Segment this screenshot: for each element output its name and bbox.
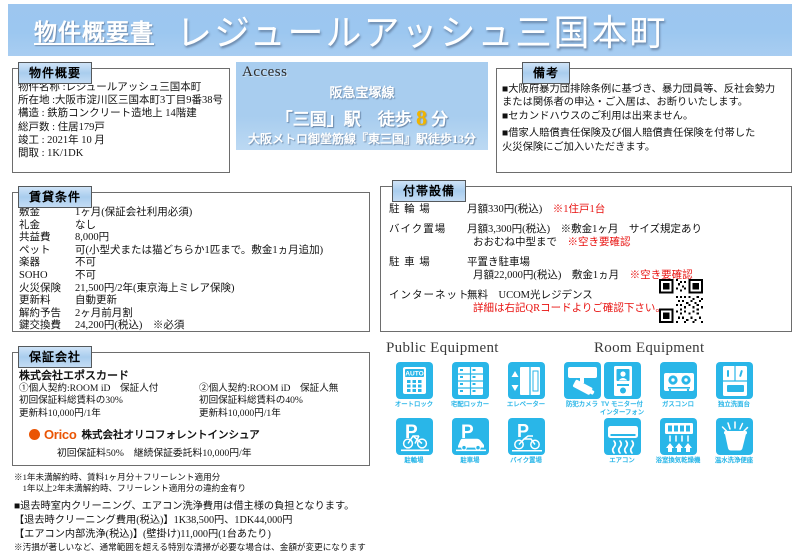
equipment-item: TV モニター付 インターフォン: [596, 362, 648, 416]
rental-condition-value: 8,000円: [75, 232, 109, 245]
rental-condition-row: 共益費8,000円: [19, 232, 323, 245]
orico-brand: Orico: [44, 427, 76, 442]
overview-row: 総戸数 : 住居179戸: [18, 121, 223, 134]
svg-text:AUTO: AUTO: [405, 371, 424, 378]
orico-logo: Orico 株式会社オリコフォレントインシュア: [29, 427, 260, 442]
rental-condition-value: 不可: [75, 270, 96, 283]
equipment-label: TV モニター付 インターフォン: [600, 401, 644, 416]
access-label: Access: [242, 64, 287, 81]
delivery-locker-icon: [452, 362, 489, 399]
facility-text: 無料 UCOM光レジデンス: [467, 290, 593, 301]
access-station-prefix: 「三国」駅 徒歩: [276, 110, 416, 129]
rental-conditions-list: 敷金1ヶ月(保証会社利用必須)礼金なし共益費8,000円ペット可(小型犬または猫…: [19, 207, 323, 333]
guarantor-badge: 保証会社: [18, 346, 92, 368]
guarantor-section: 株式会社エポスカード ①個人契約:ROOM iD 保証人付初回保証料総賃料の30…: [12, 352, 370, 466]
equipment-label: 浴室換気乾燥機: [656, 457, 701, 465]
public-equipment-row-1: AUTOオートロック宅配ロッカーエレベーター防犯カメラ: [388, 362, 612, 409]
rental-condition-row: SOHO不可: [19, 270, 323, 283]
rental-condition-value: 1ヶ月(保証会社利用必須): [75, 207, 192, 220]
access-station-walk: 「三国」駅 徒歩 8 分: [236, 105, 488, 131]
rental-condition-key: 楽器: [19, 257, 75, 270]
facility-value-line: おおむね中型まで ※空き要確認: [467, 236, 702, 249]
access-section: Access 阪急宝塚線 「三国」駅 徒歩 8 分 大阪メトロ御堂筋線『東三国』…: [236, 62, 488, 150]
facility-text: 月額330円(税込): [467, 204, 553, 215]
overview-row: 構造 : 鉄筋コンクリート造地上 14階建: [18, 107, 223, 120]
facility-text: おおむね中型まで: [473, 237, 568, 248]
facility-key: バイク置場: [389, 223, 467, 249]
facility-key: インターネット: [389, 289, 467, 315]
public-equipment-title: Public Equipment: [386, 340, 499, 357]
access-station-suffix: 分: [427, 110, 448, 129]
facility-value: 月額3,300円(税込) ※敷金1ヶ月 サイズ規定ありおおむね中型まで ※空き要…: [467, 223, 702, 249]
guarantor-plan-line: ②個人契約:ROOM iD 保証人無: [199, 383, 338, 395]
facility-text: 平置き駐車場: [467, 257, 530, 268]
gas-stove-icon: [660, 362, 697, 399]
rental-condition-key: 敷金: [19, 207, 75, 220]
equipment-item: 温水洗浄便座: [708, 418, 760, 465]
overview-row: 間取 : 1K/1DK: [18, 147, 223, 160]
rental-condition-key: 解約予告: [19, 308, 75, 321]
facility-value: 月額330円(税込) ※1住戸1台: [467, 203, 605, 216]
room-equipment-title: Room Equipment: [594, 340, 704, 357]
rental-conditions-section: 敷金1ヶ月(保証会社利用必須)礼金なし共益費8,000円ペット可(小型犬または猫…: [12, 192, 370, 332]
document-header: 物件概要書 レジュールアッシュ三国本町: [8, 4, 792, 56]
equipment-label: エレベーター: [507, 401, 545, 409]
remarks-line: 火災保険にご加入いただきます。: [502, 141, 775, 154]
facility-note: ※1住戸1台: [553, 204, 606, 215]
orico-dot-icon: [29, 429, 40, 440]
orico-detail: 初回保証料50% 継続保証委託料10,000円/年: [57, 445, 252, 459]
rental-condition-value: 2ヶ月前月割: [75, 308, 133, 321]
guarantor-plan-line: 更新料10,000円/1年: [19, 408, 158, 420]
washbasin-icon: [716, 362, 753, 399]
bath-dryer-icon: [660, 418, 697, 455]
air-conditioner-icon: [604, 418, 641, 455]
guarantor-plan-line: ①個人契約:ROOM iD 保証人付: [19, 383, 158, 395]
rental-condition-row: ペット可(小型犬または猫どちらか1匹まで。敷金1ヵ月追加): [19, 245, 323, 258]
equipment-label: エアコン: [609, 457, 635, 465]
facility-value-line: 月額330円(税込) ※1住戸1台: [467, 203, 605, 216]
facility-row: バイク置場月額3,300円(税込) ※敷金1ヶ月 サイズ規定ありおおむね中型まで…: [389, 223, 702, 249]
rental-condition-row: 火災保険21,500円/2年(東京海上ミレア保険): [19, 283, 323, 296]
equipment-label: ガスコンロ: [662, 401, 694, 409]
access-walk-minutes: 8: [416, 105, 427, 130]
property-overview-badge: 物件概要: [18, 62, 92, 84]
equipment-label: 駐車場: [460, 457, 479, 465]
bottom-notes: ※1年未満解約時、賃料1ヶ月分＋フリーレント適用分 1年以上2年未満解約時、フリ…: [14, 472, 434, 553]
access-train-line: 阪急宝塚線: [236, 82, 488, 101]
notes-line: ■退去時室内クリーニング、エアコン洗浄費用は借主様の負担となります。: [14, 500, 434, 514]
facility-row: 駐 車 場平置き駐車場月額22,000円(税込) 敷金1ヵ月 ※空き要確認: [389, 256, 702, 282]
rental-condition-value: 自動更新: [75, 295, 117, 308]
equipment-label: 宅配ロッカー: [451, 401, 489, 409]
rental-condition-row: 楽器不可: [19, 257, 323, 270]
access-secondary-station: 大阪メトロ御堂筋線『東三国』駅徒歩13分: [236, 130, 488, 147]
equipment-label: オートロック: [395, 401, 433, 409]
facility-key: 駐 輪 場: [389, 203, 467, 216]
equipment-label: 温水洗浄便座: [715, 457, 753, 465]
facilities-badge: 付帯設備: [392, 180, 466, 202]
facility-note: ※空き要確認: [568, 237, 631, 248]
notes-body: ■退去時室内クリーニング、エアコン洗浄費用は借主様の負担となります。【退去時クリ…: [14, 500, 434, 542]
equipment-label: バイク置場: [510, 457, 542, 465]
equipment-item: エレベーター: [500, 362, 552, 409]
facility-row: インターネット無料 UCOM光レジデンス詳細は右記QRコードよりご確認下さい。: [389, 289, 702, 315]
facility-text: 月額22,000円(税込) 敷金1ヵ月: [473, 270, 630, 281]
rental-condition-key: 共益費: [19, 232, 75, 245]
room-equipment-row-1: TV モニター付 インターフォンガスコンロ独立洗面台: [596, 362, 764, 416]
notes-small: ※1年未満解約時、賃料1ヶ月分＋フリーレント適用分 1年以上2年未満解約時、フリ…: [14, 472, 434, 495]
rental-conditions-badge: 賃貸条件: [18, 186, 92, 208]
rental-condition-key: 礼金: [19, 220, 75, 233]
rental-condition-value: 不可: [75, 257, 96, 270]
tv-intercom-icon: [604, 362, 641, 399]
guarantor-plan-left: ①個人契約:ROOM iD 保証人付初回保証料総賃料の30%更新料10,000円…: [19, 383, 158, 420]
equipment-item: エアコン: [596, 418, 648, 465]
rental-condition-value: 24,200円(税込) ※必須: [75, 320, 184, 333]
facility-text: 月額3,300円(税込) ※敷金1ヶ月 サイズ規定あり: [467, 224, 702, 235]
overview-row: 竣工 : 2021年 10 月: [18, 134, 223, 147]
facility-value: 無料 UCOM光レジデンス詳細は右記QRコードよりご確認下さい。: [467, 289, 666, 315]
rental-condition-key: 鍵交換費: [19, 320, 75, 333]
equipment-item: 浴室換気乾燥機: [652, 418, 704, 465]
equipment-label: 駐輪場: [404, 457, 423, 465]
auto-lock-icon: AUTO: [396, 362, 433, 399]
remarks-line: ■セカンドハウスのご利用は出来ません。: [502, 110, 775, 123]
remarks-list: ■大阪府暴力団排除条例に基づき、暴力団員等、反社会勢力または関係者の申込・ご入居…: [502, 83, 775, 154]
guarantor-plan-line: 初回保証料総賃料の30%: [19, 395, 158, 407]
property-overview-list: 物件名称 :レジュールアッシュ三国本町所在地 :大阪市淀川区三国本町3丁目9番3…: [18, 81, 223, 160]
rental-condition-key: SOHO: [19, 270, 75, 283]
notes-line: 【エアコン内部洗浄(税込)】(壁掛け)11,000円(1台あたり): [14, 528, 434, 542]
equipment-section: Public Equipment Room Equipment AUTOオートロ…: [386, 340, 796, 500]
equipment-item: 独立洗面台: [708, 362, 760, 416]
rental-condition-row: 鍵交換費24,200円(税込) ※必須: [19, 320, 323, 333]
security-camera-icon: [564, 362, 601, 399]
guarantor-plan-line: 更新料10,000円/1年: [199, 408, 338, 420]
notes-footer: ※汚損が著しいなど、通常範囲を超える特別な清掃が必要な場合は、金額が変更になりま…: [14, 542, 434, 553]
facility-value-line: 無料 UCOM光レジデンス: [467, 289, 666, 302]
notes-line: 【退去時クリーニング費用(税込)】1K38,500円、1DK44,000円: [14, 514, 434, 528]
facility-row: 駐 輪 場月額330円(税込) ※1住戸1台: [389, 203, 702, 216]
facility-note: 詳細は右記QRコードよりご確認下さい。: [473, 303, 666, 314]
rental-condition-key: ペット: [19, 245, 75, 258]
room-equipment-row-2: エアコン浴室換気乾燥機温水洗浄便座: [596, 418, 764, 465]
guarantor-company-name: 株式会社エポスカード: [19, 367, 129, 383]
overview-row: 所在地 :大阪市淀川区三国本町3丁目9番38号: [18, 94, 223, 107]
notes-line: 1年以上2年未満解約時、フリーレント適用分の違約金有り: [14, 483, 434, 494]
page-title: レジュールアッシュ三国本町: [176, 4, 667, 56]
svg-text:P: P: [517, 421, 529, 441]
rental-condition-key: 火災保険: [19, 283, 75, 296]
equipment-item: Pバイク置場: [500, 418, 552, 465]
facilities-list: 駐 輪 場月額330円(税込) ※1住戸1台バイク置場月額3,300円(税込) …: [389, 203, 702, 322]
bidet-toilet-icon: [716, 418, 753, 455]
elevator-icon: [508, 362, 545, 399]
rental-condition-key: 更新料: [19, 295, 75, 308]
motorcycle-parking-icon: P: [508, 418, 545, 455]
rental-condition-value: 可(小型犬または猫どちらか1匹まで。敷金1ヵ月追加): [75, 245, 323, 258]
equipment-item: P駐車場: [444, 418, 496, 465]
facility-value-line: 平置き駐車場: [467, 256, 693, 269]
facilities-section: 駐 輪 場月額330円(税込) ※1住戸1台バイク置場月額3,300円(税込) …: [380, 186, 792, 332]
remarks-badge: 備考: [522, 62, 570, 84]
rental-condition-row: 敷金1ヶ月(保証会社利用必須): [19, 207, 323, 220]
guarantor-plan-right: ②個人契約:ROOM iD 保証人無初回保証料総賃料の40%更新料10,000円…: [199, 383, 338, 420]
equipment-item: 宅配ロッカー: [444, 362, 496, 409]
public-equipment-row-2: P駐輪場P駐車場Pバイク置場: [388, 418, 556, 465]
facility-value-line: 月額3,300円(税込) ※敷金1ヶ月 サイズ規定あり: [467, 223, 702, 236]
rental-condition-value: 21,500円/2年(東京海上ミレア保険): [75, 283, 235, 296]
facility-key: 駐 車 場: [389, 256, 467, 282]
notes-line: ※1年未満解約時、賃料1ヶ月分＋フリーレント適用分: [14, 472, 434, 483]
property-summary-document: 物件概要書 レジュールアッシュ三国本町 物件名称 :レジュールアッシュ三国本町所…: [0, 0, 800, 550]
equipment-item: ガスコンロ: [652, 362, 704, 416]
equipment-item: P駐輪場: [388, 418, 440, 465]
header-subtitle: 物件概要書: [34, 13, 154, 47]
rental-condition-value: なし: [75, 220, 96, 233]
remarks-line: ■大阪府暴力団排除条例に基づき、暴力団員等、反社会勢力: [502, 83, 775, 96]
rental-condition-row: 更新料自動更新: [19, 295, 323, 308]
orico-company-name: 株式会社オリコフォレントインシュア: [81, 427, 259, 442]
facility-value-line: 詳細は右記QRコードよりご確認下さい。: [467, 302, 666, 315]
rental-condition-row: 解約予告2ヶ月前月割: [19, 308, 323, 321]
equipment-item: AUTOオートロック: [388, 362, 440, 409]
remarks-line: ■借家人賠償責任保険及び個人賠償責任保険を付帯した: [502, 127, 775, 140]
equipment-label: 防犯カメラ: [566, 401, 598, 409]
equipment-label: 独立洗面台: [718, 401, 750, 409]
qr-code[interactable]: [659, 279, 703, 323]
remarks-line: または関係者の申込・ご入居は、お断りいたします。: [502, 96, 775, 109]
bicycle-parking-icon: P: [396, 418, 433, 455]
rental-condition-row: 礼金なし: [19, 220, 323, 233]
car-parking-icon: P: [452, 418, 489, 455]
guarantor-plan-line: 初回保証料総賃料の40%: [199, 395, 338, 407]
